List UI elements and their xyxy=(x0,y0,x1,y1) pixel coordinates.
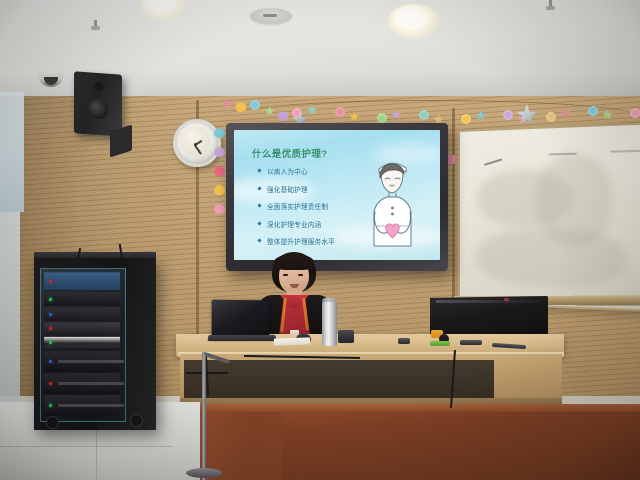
decoration-garland xyxy=(222,84,640,124)
wall-heart-icon xyxy=(214,128,225,138)
rack-status-led-icon xyxy=(49,360,52,363)
garland-flower-icon xyxy=(630,108,640,118)
slide-bullet-list: 以病人为中心强化基础护理全面落实护理责任制深化护理专业内涵整体提升护理服务水平 xyxy=(258,166,335,254)
rack-unit xyxy=(44,395,120,416)
rack-amp-faceplate xyxy=(58,382,124,385)
presenter-eye xyxy=(283,274,288,276)
laptop[interactable] xyxy=(208,300,272,342)
wall-heart-icon xyxy=(214,147,225,157)
rack-unit xyxy=(44,272,120,290)
presenter-fringe xyxy=(274,254,314,270)
ceiling-speaker-icon xyxy=(250,8,292,24)
presenter-eye xyxy=(298,274,303,276)
rack-status-led-icon xyxy=(49,382,52,385)
garland-star-icon xyxy=(222,98,233,109)
recessed-downlight-icon xyxy=(388,4,440,38)
slide-bullet: 全面落实护理责任制 xyxy=(258,201,335,211)
fire-sprinkler-icon xyxy=(91,20,100,32)
rack-status-led-icon xyxy=(49,313,52,316)
window-light xyxy=(0,92,24,212)
desk-small-object xyxy=(398,338,410,344)
classroom-photo: 什么是优质护理? 以病人为中心强化基础护理全面落实护理责任制深化护理专业内涵整体… xyxy=(0,0,640,480)
laptop-lid xyxy=(212,300,270,337)
wall-heart-icon xyxy=(214,204,225,214)
window-light xyxy=(0,212,20,402)
stage-edge xyxy=(162,404,640,412)
rack-unit xyxy=(44,336,120,348)
slide-bullet: 深化护理专业内涵 xyxy=(258,219,335,229)
podium-shadow-panel xyxy=(184,360,494,398)
rack-amp-faceplate xyxy=(58,404,124,407)
garland-heart-icon xyxy=(447,155,457,164)
wall-heart-icon xyxy=(214,166,225,176)
av-equipment-rack[interactable] xyxy=(34,258,156,430)
display-screen[interactable]: 什么是优质护理? 以病人为中心强化基础护理全面落实护理责任制深化护理专业内涵整体… xyxy=(234,130,440,260)
small-black-device xyxy=(338,330,354,343)
smart-display[interactable]: 什么是优质护理? 以病人为中心强化基础护理全面落实护理责任制深化护理专业内涵整体… xyxy=(226,123,448,271)
thermos-flask xyxy=(322,302,337,346)
fire-sprinkler-icon xyxy=(546,0,555,12)
rack-unit xyxy=(44,351,120,372)
rack-unit xyxy=(44,307,120,321)
laptop-keyboard[interactable] xyxy=(207,335,276,341)
rack-status-led-icon xyxy=(49,298,52,301)
floor-tile-line xyxy=(0,446,172,447)
rack-status-led-icon xyxy=(49,404,52,407)
garland-flower-icon xyxy=(335,107,345,117)
whiteboard xyxy=(458,122,640,312)
rack-amp-faceplate xyxy=(58,360,124,363)
microphone-stand[interactable] xyxy=(202,352,206,480)
wall-speaker-icon xyxy=(74,71,122,136)
rack-unit xyxy=(44,292,120,306)
rack-status-led-icon xyxy=(49,280,52,283)
garland-flower-icon xyxy=(588,106,598,116)
garland-flower-icon xyxy=(461,114,471,124)
rack-unit xyxy=(44,373,120,394)
slide-title: 什么是优质护理? xyxy=(252,146,328,160)
slide-bullet: 强化基础护理 xyxy=(258,184,335,194)
garland-heart-icon xyxy=(236,103,246,112)
wall-heart-icon xyxy=(214,185,225,195)
rack-status-led-icon xyxy=(49,327,52,330)
garland-flower-icon xyxy=(503,110,513,120)
power-cable xyxy=(186,372,228,374)
rack-unit xyxy=(44,322,120,335)
slide-bullet: 以病人为中心 xyxy=(258,166,335,176)
microphone-stand-base xyxy=(186,468,222,478)
garland-flower-icon xyxy=(377,113,387,123)
yellow-green-device xyxy=(430,330,450,346)
desk-cable-bundle xyxy=(460,340,482,345)
nurse-illustration-icon xyxy=(360,152,424,248)
slide-bullet: 整体提升护理服务水平 xyxy=(258,236,335,246)
rack-status-led-icon xyxy=(49,341,52,344)
garland-flower-icon xyxy=(419,110,429,120)
monitor-indicator-icon xyxy=(504,298,509,301)
paper-stack xyxy=(274,337,310,345)
garland-heart-icon xyxy=(278,112,288,121)
garland-flower-icon xyxy=(546,112,556,122)
